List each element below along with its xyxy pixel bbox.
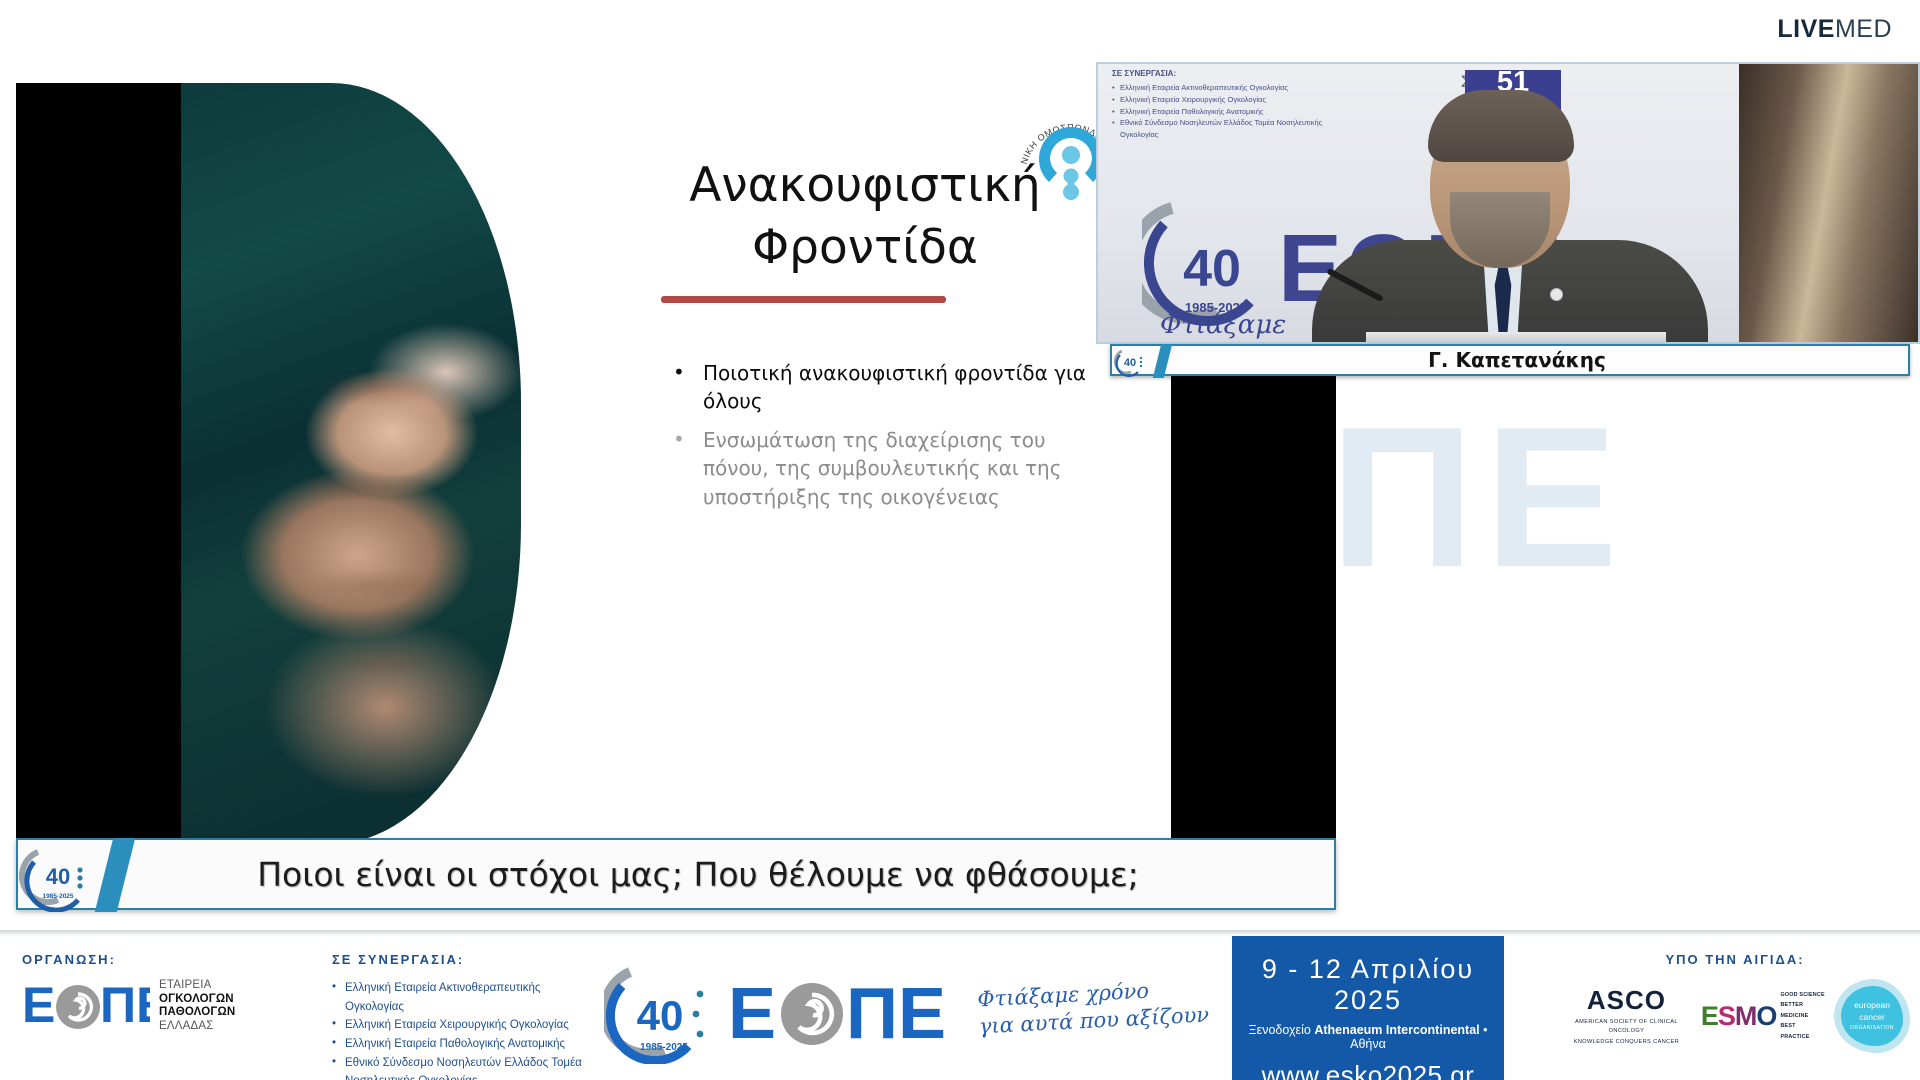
eco-line-3: ORGANISATION bbox=[1850, 1025, 1894, 1032]
speaker-nameplate: 40 Γ. Καπετανάκης bbox=[1110, 344, 1910, 376]
slide-content: ΕΛΛΗΝΙΚΗ ΟΜΟΣΠΟΝΔΙΑ ΚΑΡΚΙΝΟΥ Ανακουφιστι… bbox=[521, 83, 1171, 844]
session-title-bar: 40 1985-2025 Ποιοι είναι οι στόχοι μας; … bbox=[16, 838, 1336, 910]
eope-logo-lockup: Ε ΠΕ ΕΤΑΙΡΕΙΑ ΟΓΚΟΛΟΓΩΝ ΠΑΘΟΛΟΓΩΝ ΕΛΛΑΔΑ… bbox=[22, 979, 322, 1033]
european-cancer-organisation-logo: european cancer ORGANISATION bbox=[1834, 979, 1910, 1053]
conference-dates: 9 - 12 Απριλίου 2025 bbox=[1232, 954, 1504, 1016]
stage-right-wall bbox=[1739, 64, 1918, 342]
podium bbox=[1366, 332, 1666, 344]
top-bar: LIVEMED bbox=[0, 0, 1920, 58]
brand-med-text: MED bbox=[1835, 15, 1892, 43]
auspices-logo-row: ASCO AMERICAN SOCIETY OF CLINICAL ONCOLO… bbox=[1560, 979, 1910, 1053]
footer-bar: ΟΡΓΑΝΩΣΗ: Ε ΠΕ ΕΤΑΙΡΕΙΑ ΟΓΚΟΛΟΓΩΝ ΠΑΘΟΛΟ… bbox=[0, 936, 1920, 1080]
speaker-lapel-pin bbox=[1550, 288, 1563, 301]
anniversary-40-icon: 40 1985-2025 bbox=[604, 964, 728, 1064]
venue-prefix: Ξενοδοχείο bbox=[1249, 1023, 1311, 1037]
venue-separator: • bbox=[1483, 1023, 1487, 1037]
svg-text:40: 40 bbox=[1183, 240, 1241, 298]
collaboration-list: Ελληνική Εταιρεία Ακτινοθεραπευτικής Ογκ… bbox=[332, 979, 602, 1080]
eope-subtitle-line-1: ΕΤΑΙΡΕΙΑ bbox=[159, 979, 235, 993]
svg-text:Ε: Ε bbox=[728, 976, 776, 1052]
esmo-tagline-2: BETTER MEDICINE bbox=[1780, 1000, 1826, 1021]
auspices-heading: ΥΠΟ ΤΗΝ ΑΙΓΙΔΑ: bbox=[1560, 952, 1910, 967]
title-accent-rule bbox=[661, 296, 946, 303]
asco-logo: ASCO AMERICAN SOCIETY OF CLINICAL ONCOLO… bbox=[1560, 985, 1693, 1047]
speaker-video-player[interactable]: ΣΕ ΣΥΝΕΡΓΑΣΙΑ: Ελληνική Εταιρεία Ακτινοθ… bbox=[1096, 62, 1920, 344]
holding-hands-photo bbox=[181, 83, 521, 844]
eco-wordmark: european cancer ORGANISATION bbox=[1834, 979, 1910, 1053]
eope-subtitle-line-3: ΠΑΘΟΛΟΓΩΝ bbox=[159, 1006, 235, 1020]
venue-name: Athenaeum Intercontinental bbox=[1314, 1023, 1479, 1037]
svg-text:ΠΕ: ΠΕ bbox=[846, 976, 946, 1052]
collaboration-item: Ελληνική Εταιρεία Χειρουργικής Ογκολογία… bbox=[332, 1016, 602, 1035]
slide-bullet: Ενσωμάτωση της διαχείρισης του πόνου, τη… bbox=[667, 426, 1087, 511]
eope-subtitle-line-4: ΕΛΛΑΔΑΣ bbox=[159, 1020, 235, 1034]
eope-logo-icon: Ε ΠΕ bbox=[22, 980, 150, 1032]
svg-text:40: 40 bbox=[637, 992, 684, 1039]
backdrop-script-text: Φτιάξαμε bbox=[1160, 310, 1286, 340]
eco-line-2: cancer bbox=[1859, 1012, 1885, 1023]
footer-collaboration: ΣΕ ΣΥΝΕΡΓΑΣΙΑ: Ελληνική Εταιρεία Ακτινοθ… bbox=[332, 952, 602, 1080]
svg-text:40: 40 bbox=[46, 864, 70, 889]
svg-text:40: 40 bbox=[1124, 357, 1136, 369]
session-title-text: Ποιοι είναι οι στόχοι μας; Που θέλουμε ν… bbox=[122, 855, 1334, 894]
conference-details-box: 9 - 12 Απριλίου 2025 Ξενοδοχείο Athenaeu… bbox=[1232, 936, 1504, 1080]
esmo-tagline: GOOD SCIENCE BETTER MEDICINE BEST PRACTI… bbox=[1780, 990, 1826, 1043]
esmo-letter-m: M bbox=[1735, 1001, 1757, 1031]
venue-city: Αθήνα bbox=[1350, 1037, 1386, 1051]
slide-bullet-list: Ποιοτική ανακουφιστική φροντίδα για όλου… bbox=[667, 359, 1087, 521]
footer-auspices: ΥΠΟ ΤΗΝ ΑΙΓΙΔΑ: ASCO AMERICAN SOCIETY OF… bbox=[1560, 952, 1910, 1053]
livemed-logo[interactable]: LIVEMED bbox=[1777, 14, 1892, 44]
svg-text:1985-2025: 1985-2025 bbox=[640, 1042, 688, 1053]
eco-line-1: european bbox=[1854, 1000, 1890, 1011]
eope-watermark: ΠΕ bbox=[1330, 398, 1628, 598]
slide-page: ΕΛΛΗΝΙΚΗ ΟΜΟΣΠΟΝΔΙΑ ΚΑΡΚΙΝΟΥ Ανακουφιστι… bbox=[181, 83, 1171, 844]
svg-text:ΠΕ: ΠΕ bbox=[100, 980, 150, 1032]
slide-title: Ανακουφιστική Φροντίδα bbox=[585, 155, 1145, 279]
conference-venue: Ξενοδοχείο Athenaeum Intercontinental • … bbox=[1232, 1023, 1504, 1051]
svg-text:1985-2025: 1985-2025 bbox=[42, 893, 73, 900]
brand-live-text: LIVE bbox=[1777, 15, 1835, 43]
eope-subtitle-line-2: ΟΓΚΟΛΟΓΩΝ bbox=[159, 993, 235, 1007]
organizer-heading: ΟΡΓΑΝΩΣΗ: bbox=[22, 952, 322, 967]
footer-slogan: Φτιάξαμε χρόνο για αυτά που αξίζουν bbox=[977, 973, 1229, 1040]
slide-title-line-1: Ανακουφιστική bbox=[585, 155, 1145, 217]
esmo-letter-e: E bbox=[1701, 1001, 1718, 1031]
speaker-hair bbox=[1428, 90, 1574, 162]
esmo-wordmark: ESMO bbox=[1701, 1001, 1777, 1032]
svg-text:Ε: Ε bbox=[22, 980, 55, 1032]
collaboration-item: Ελληνική Εταιρεία Ακτινοθεραπευτικής Ογκ… bbox=[332, 979, 602, 1016]
collaboration-heading: ΣΕ ΣΥΝΕΡΓΑΣΙΑ: bbox=[332, 952, 602, 967]
asco-tagline-2: KNOWLEDGE CONQUERS CANCER bbox=[1560, 1038, 1693, 1047]
slide-bullet: Ποιοτική ανακουφιστική φροντίδα για όλου… bbox=[667, 359, 1087, 416]
esmo-tagline-1: GOOD SCIENCE bbox=[1780, 990, 1826, 1001]
eope-subtitle: ΕΤΑΙΡΕΙΑ ΟΓΚΟΛΟΓΩΝ ΠΑΘΟΛΟΓΩΝ ΕΛΛΑΔΑΣ bbox=[159, 979, 235, 1033]
slide-title-line-2: Φροντίδα bbox=[585, 217, 1145, 279]
player-stage: LIVEMED ΕΛΛΗΝΙΚΗ ΟΜΟΣΠΟΝΔΙΑ ΚΑΡΚΙΝΟΥ bbox=[0, 0, 1920, 1080]
asco-wordmark: ASCO bbox=[1560, 985, 1693, 1016]
esmo-logo: ESMO GOOD SCIENCE BETTER MEDICINE BEST P… bbox=[1701, 990, 1826, 1043]
esmo-letter-s: S bbox=[1718, 1001, 1735, 1031]
asco-tagline-1: AMERICAN SOCIETY OF CLINICAL ONCOLOGY bbox=[1560, 1018, 1693, 1036]
esmo-tagline-3: BEST PRACTICE bbox=[1780, 1021, 1826, 1042]
footer-anniversary-logo: 40 1985-2025 Ε ΠΕ bbox=[604, 962, 1014, 1066]
collaboration-item: Ελληνική Εταιρεία Παθολογικής Ανατομικής bbox=[332, 1035, 602, 1054]
footer-organizer: ΟΡΓΑΝΩΣΗ: Ε ΠΕ ΕΤΑΙΡΕΙΑ ΟΓΚΟΛΟΓΩΝ ΠΑΘΟΛΟ… bbox=[22, 952, 322, 1033]
speaker-name: Γ. Καπετανάκης bbox=[1166, 348, 1908, 372]
video-frame[interactable]: ΣΕ ΣΥΝΕΡΓΑΣΙΑ: Ελληνική Εταιρεία Ακτινοθ… bbox=[1096, 62, 1920, 344]
esmo-letter-o: O bbox=[1756, 1001, 1776, 1031]
conference-website[interactable]: www.esko2025.gr bbox=[1232, 1060, 1504, 1080]
nameplate-badge: 40 bbox=[1112, 346, 1166, 374]
anniversary-badge-caption: 40 1985-2025 bbox=[18, 840, 122, 908]
collaboration-item: Εθνικό Σύνδεσμο Νοσηλευτών Ελλάδος Τομέα… bbox=[332, 1054, 602, 1080]
anniversary-eope-mark: Ε ΠΕ bbox=[728, 976, 978, 1052]
